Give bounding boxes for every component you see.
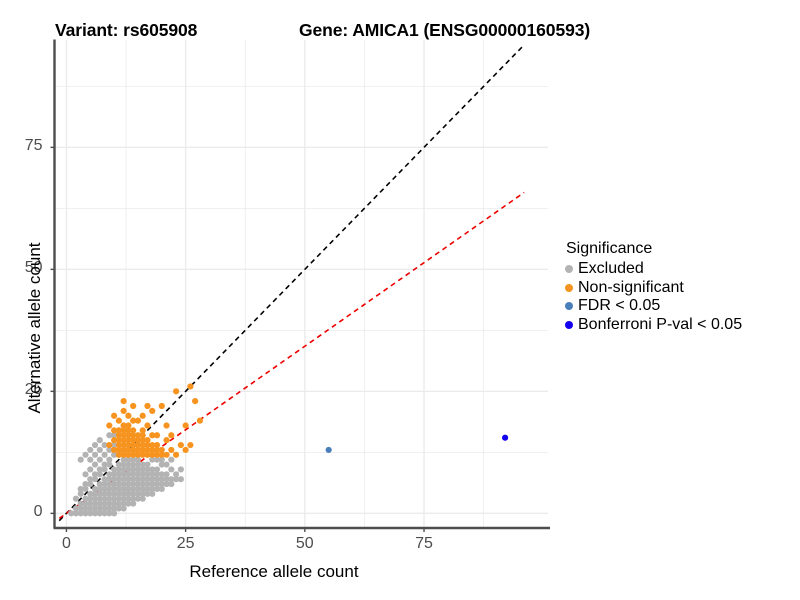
legend-swatch-icon [560,260,578,278]
legend-item-label: Non-significant [578,279,684,297]
legend-item-label: FDR < 0.05 [578,297,660,315]
x-tick-label: 25 [166,535,206,553]
legend-item-label: Excluded [578,260,644,278]
x-tick-label: 50 [285,535,325,553]
y-axis-title: Alternative allele count [25,178,45,478]
points-bonferroni [502,435,508,441]
x-tick-label: 75 [404,535,444,553]
legend-swatch-icon [560,297,578,315]
legend-swatch-icon [560,316,578,334]
legend-swatch-icon [560,279,578,297]
legend-items: ExcludedNon-significantFDR < 0.05Bonferr… [560,260,800,334]
x-axis-title: Reference allele count [0,562,548,582]
points-fdr [326,447,332,453]
y-tick-label: 0 [3,503,43,521]
legend-item[interactable]: FDR < 0.05 [560,297,800,316]
chart-root: Variant: rs605908 Gene: AMICA1 (ENSG0000… [0,0,800,600]
legend-item[interactable]: Non-significant [560,279,800,298]
legend-item[interactable]: Bonferroni P-val < 0.05 [560,316,800,335]
legend-title: Significance [566,240,800,258]
legend-item[interactable]: Excluded [560,260,800,279]
legend-item-label: Bonferroni P-val < 0.05 [578,316,742,334]
y-tick-label: 75 [3,137,43,155]
legend: Significance ExcludedNon-significantFDR … [560,240,800,334]
x-tick-label: 0 [46,535,86,553]
